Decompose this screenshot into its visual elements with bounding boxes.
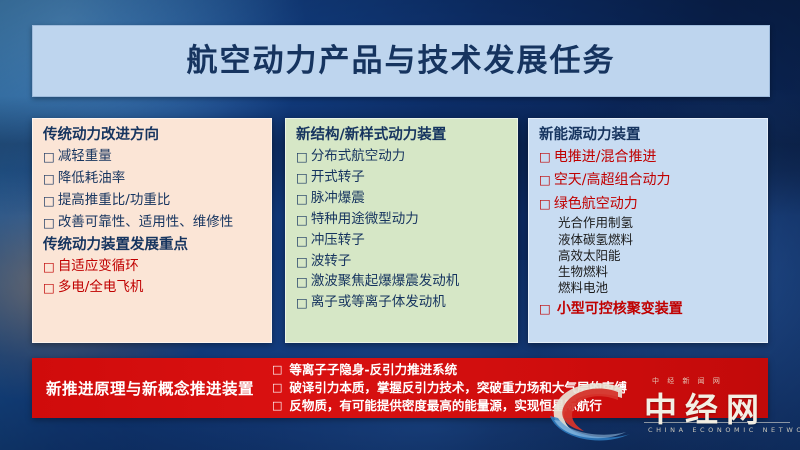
checkbox-square-icon: □	[43, 171, 55, 187]
list-item-label: 电推进/混合推进	[554, 149, 657, 166]
checkbox-square-icon: □	[43, 193, 55, 209]
list-item: □ 降低耗油率	[43, 171, 262, 187]
banner-list-item: □ 破译引力本质，掌握反引力技术，突破重力场和大气层的束缚	[272, 379, 768, 397]
list-item-label: 离子或等离子体发动机	[311, 295, 446, 311]
list-item: □ 绿色航空动力	[539, 196, 758, 213]
checkbox-square-icon: □	[43, 215, 55, 231]
checkbox-square-icon: □	[272, 362, 282, 378]
list-item: □ 脉冲爆震	[296, 191, 508, 207]
column-heading-1b: 传统动力装置发展重点	[43, 238, 262, 254]
list-item-label: 开式转子	[311, 170, 365, 186]
list-item: □ 激波聚焦起爆爆震发动机	[296, 274, 508, 290]
list-item-label: 波转子	[311, 254, 352, 270]
list-item-label: 降低耗油率	[58, 171, 126, 187]
checkbox-square-icon: □	[296, 274, 308, 290]
sub-list-item: 液体碳氢燃料	[558, 232, 758, 247]
panel-new-propulsion-banner: 新推进原理与新概念推进装置 □ 等离子子隐身-反引力推进系统 □ 破译引力本质，…	[32, 358, 768, 418]
checkbox-square-icon: □	[296, 233, 308, 249]
list-item: □ 离子或等离子体发动机	[296, 295, 508, 311]
list-item: □ 小型可控核聚变装置	[539, 301, 758, 318]
checkbox-square-icon: □	[296, 295, 308, 311]
column-heading-1a: 传统动力改进方向	[43, 128, 262, 144]
title-panel: 航空动力产品与技术发展任务	[32, 25, 770, 97]
banner-list-item: □ 等离子子隐身-反引力推进系统	[272, 361, 768, 379]
panel-new-structure-power: 新结构/新样式动力装置 □ 分布式航空动力 □ 开式转子 □ 脉冲爆震 □ 特种…	[285, 118, 518, 343]
panel-new-energy-power: 新能源动力装置 □ 电推进/混合推进 □ 空天/高超组合动力 □ 绿色航空动力 …	[528, 118, 768, 343]
list-item: □ 自适应变循环	[43, 259, 262, 275]
checkbox-square-icon: □	[272, 398, 282, 414]
banner-list: □ 等离子子隐身-反引力推进系统 □ 破译引力本质，掌握反引力技术，突破重力场和…	[268, 361, 768, 415]
checkbox-square-icon: □	[539, 301, 551, 317]
sub-list-item: 生物燃料	[558, 264, 758, 279]
list-item-label: 空天/高超组合动力	[554, 172, 671, 189]
panel-traditional-power: 传统动力改进方向 □ 减轻重量 □ 降低耗油率 □ 提高推重比/功重比 □ 改善…	[32, 118, 272, 343]
list-item-label: 脉冲爆震	[311, 191, 365, 207]
list-item: □ 改善可靠性、适用性、维修性	[43, 215, 262, 231]
list-item-label: 分布式航空动力	[311, 149, 406, 165]
list-item: □ 多电/全电飞机	[43, 280, 262, 296]
checkbox-square-icon: □	[43, 149, 55, 165]
banner-list-item-label: 破译引力本质，掌握反引力技术，突破重力场和大气层的束缚	[289, 379, 627, 397]
list-item: □ 空天/高超组合动力	[539, 172, 758, 189]
checkbox-square-icon: □	[272, 380, 282, 396]
checkbox-square-icon: □	[296, 254, 308, 270]
list-item-label: 改善可靠性、适用性、维修性	[58, 215, 234, 231]
list-item-label: 减轻重量	[58, 149, 112, 165]
checkbox-square-icon: □	[539, 172, 551, 188]
list-item: □ 波转子	[296, 254, 508, 270]
list-item: □ 冲压转子	[296, 233, 508, 249]
list-item: □ 减轻重量	[43, 149, 262, 165]
checkbox-square-icon: □	[296, 212, 308, 228]
list-item: □ 电推进/混合推进	[539, 149, 758, 166]
list-item-label: 绿色航空动力	[554, 196, 638, 213]
list-item-label: 自适应变循环	[58, 259, 139, 275]
list-item: □ 分布式航空动力	[296, 149, 508, 165]
checkbox-square-icon: □	[296, 170, 308, 186]
checkbox-square-icon: □	[296, 149, 308, 165]
checkbox-square-icon: □	[43, 259, 55, 275]
list-item-label: 激波聚焦起爆爆震发动机	[311, 274, 460, 290]
banner-list-item-label: 等离子子隐身-反引力推进系统	[289, 361, 457, 379]
list-item-label: 提高推重比/功重比	[58, 193, 171, 209]
banner-label: 新推进原理与新概念推进装置	[32, 377, 268, 399]
checkbox-square-icon: □	[539, 196, 551, 212]
page-title: 航空动力产品与技术发展任务	[187, 46, 616, 77]
sub-list-item: 燃料电池	[558, 280, 758, 295]
checkbox-square-icon: □	[43, 280, 55, 296]
column-heading-3: 新能源动力装置	[539, 128, 758, 144]
checkbox-square-icon: □	[296, 191, 308, 207]
checkbox-square-icon: □	[539, 149, 551, 165]
column-heading-2: 新结构/新样式动力装置	[296, 128, 508, 144]
banner-list-item-label: 反物质，有可能提供密度最高的能量源，实现恒星际航行	[289, 397, 602, 415]
list-item: □ 特种用途微型动力	[296, 212, 508, 228]
list-item: □ 提高推重比/功重比	[43, 193, 262, 209]
list-item-label: 特种用途微型动力	[311, 212, 419, 228]
sub-list-item: 高效太阳能	[558, 248, 758, 263]
sub-list-item: 光合作用制氢	[558, 215, 758, 230]
banner-list-item: □ 反物质，有可能提供密度最高的能量源，实现恒星际航行	[272, 397, 768, 415]
list-item-label: 冲压转子	[311, 233, 365, 249]
list-item: □ 开式转子	[296, 170, 508, 186]
list-item-label: 小型可控核聚变装置	[557, 301, 683, 318]
list-item-label: 多电/全电飞机	[58, 280, 144, 296]
